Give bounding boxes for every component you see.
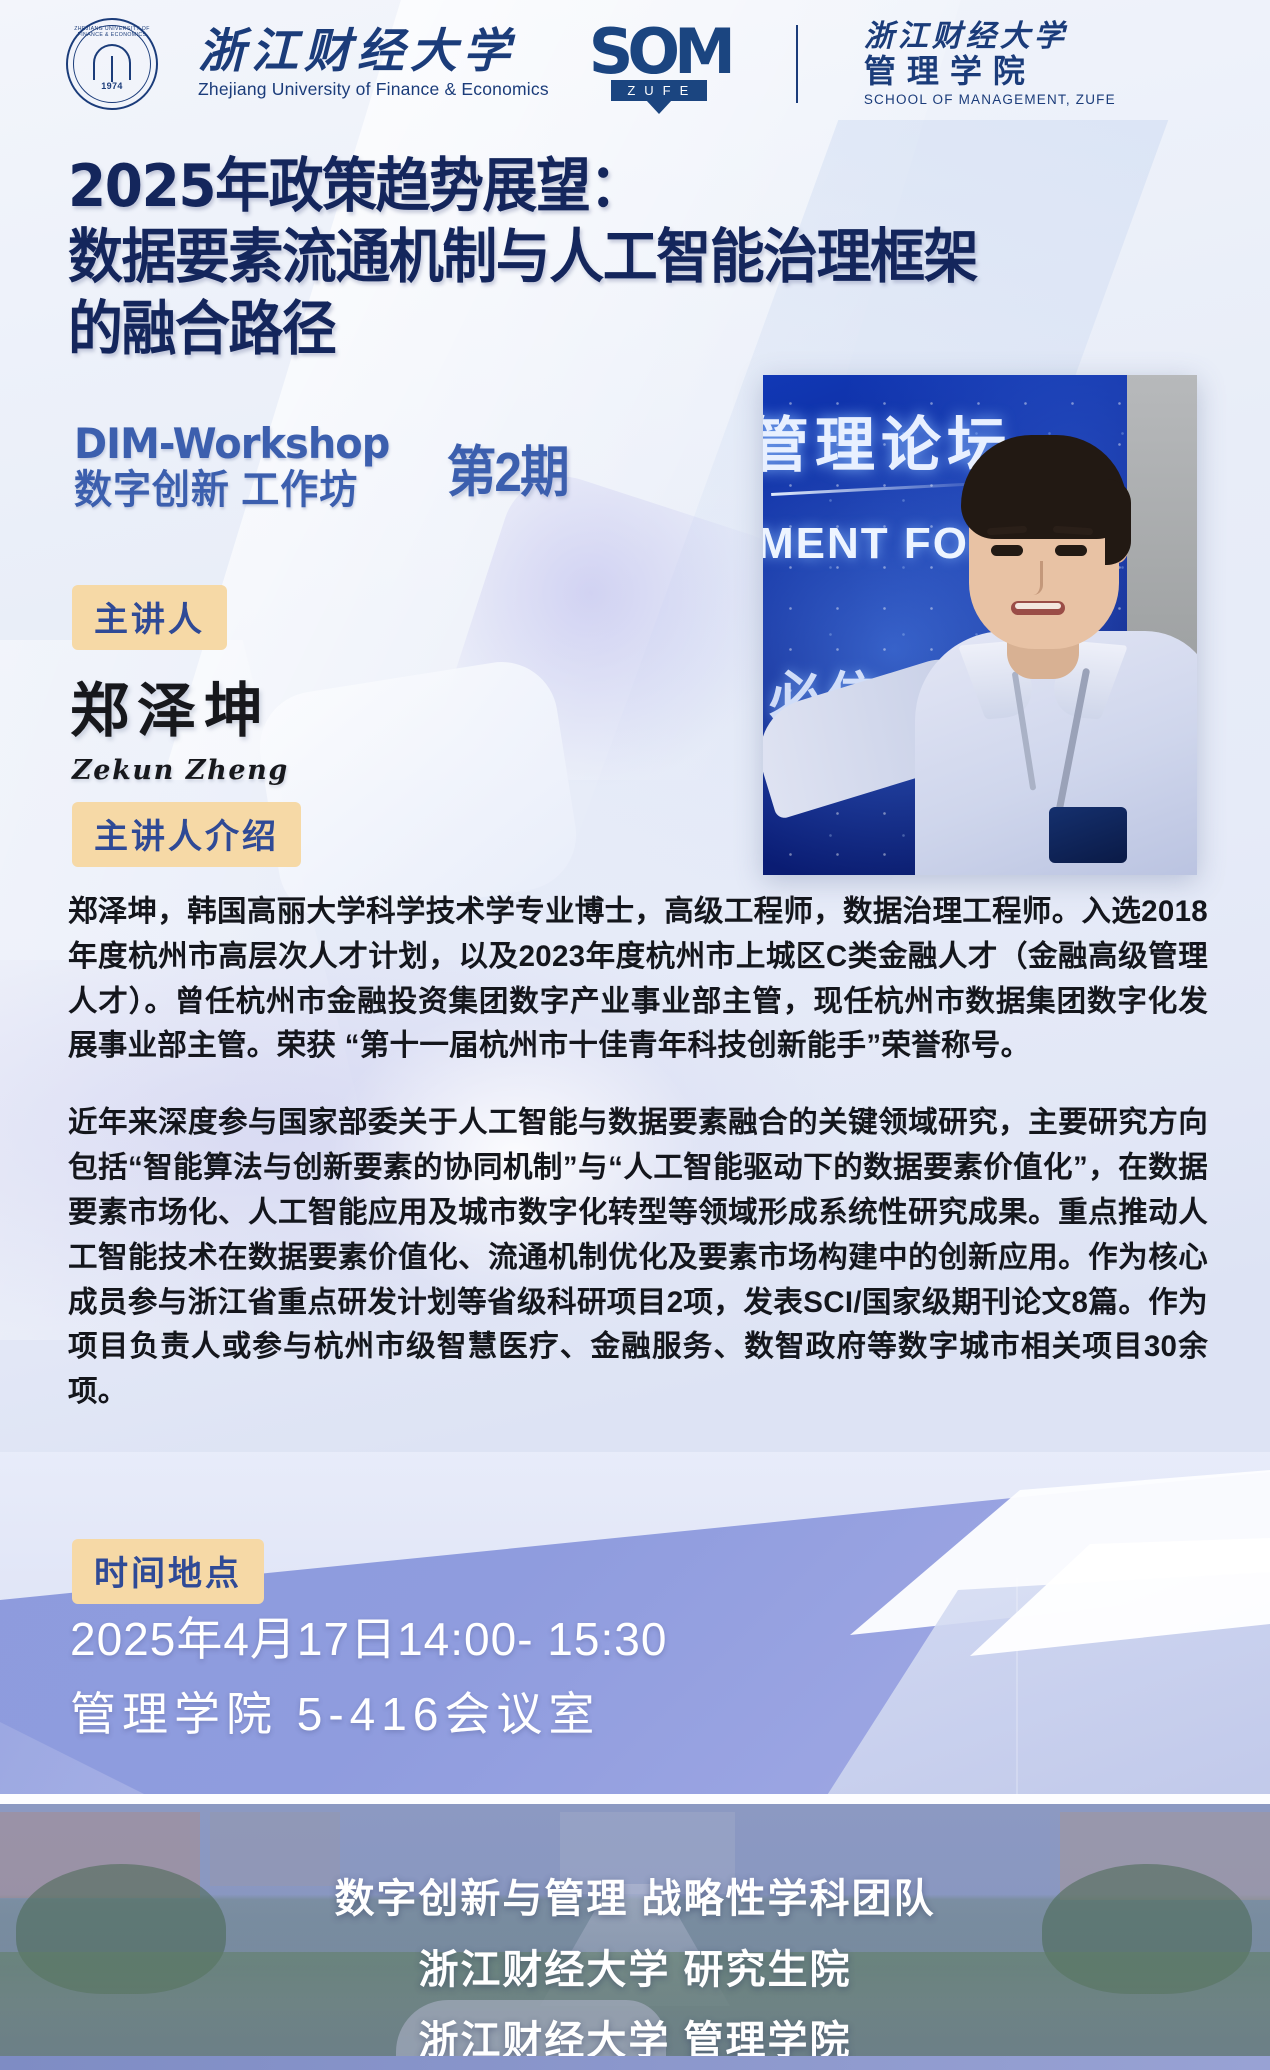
speaker-photo: 管理论坛 MENT FOR 必信AI bbox=[763, 375, 1197, 875]
som-logo-letters: SOM bbox=[589, 27, 730, 78]
title-line-2: 数据要素流通机制与人工智能治理框架 bbox=[68, 221, 1128, 292]
poster-title: 2025年政策趋势展望： 数据要素流通机制与人工智能治理框架 的融合路径 bbox=[68, 150, 1208, 364]
footer-line-2: 浙江财经大学 研究生院 bbox=[0, 1937, 1270, 1995]
poster-root: ZHEJIANG UNIVERSITY OF FINANCE & ECONOMI… bbox=[0, 0, 1270, 2070]
white-rounded-card bbox=[252, 654, 584, 928]
speaker-nose bbox=[1025, 561, 1043, 595]
university-name-cn: 浙江财经大学 bbox=[198, 28, 549, 75]
speaker-badge: 主讲人 bbox=[72, 585, 227, 650]
bio-paragraph-2: 近年来深度参与国家部委关于人工智能与数据要素融合的关键领域研究，主要研究方向包括… bbox=[68, 1101, 1208, 1415]
speaker-name-en: Zekun Zheng bbox=[72, 755, 289, 786]
footer-banner: 数字创新与管理 战略性学科团队 浙江财经大学 研究生院 浙江财经大学 管理学院 bbox=[0, 1804, 1270, 2070]
title-line-1: 2025年政策趋势展望： bbox=[68, 150, 1128, 221]
school-wordmark: 浙江财经大学 管理学院 SCHOOL OF MANAGEMENT, ZUFE bbox=[864, 21, 1116, 107]
speaker-intro-badge: 主讲人介绍 bbox=[72, 802, 301, 867]
bio-paragraph-1: 郑泽坤，韩国高丽大学科学技术学专业博士，高级工程师，数据治理工程师。入选2018… bbox=[68, 890, 1208, 1069]
university-wordmark: 浙江财经大学 Zhejiang University of Finance & … bbox=[198, 28, 549, 100]
workshop-name-cn: 数字创新 工作坊 bbox=[74, 467, 389, 513]
school-name-cn-line2: 管理学院 bbox=[864, 55, 1116, 89]
workshop-name-en: DIM-Workshop bbox=[74, 420, 389, 467]
university-seal-icon: ZHEJIANG UNIVERSITY OF FINANCE & ECONOMI… bbox=[66, 18, 158, 110]
speaker-bio: 郑泽坤，韩国高丽大学科学技术学专业博士，高级工程师，数据治理工程师。入选2018… bbox=[68, 890, 1208, 1415]
workshop-name: DIM-Workshop 数字创新 工作坊 bbox=[74, 420, 406, 513]
violet-blob bbox=[431, 461, 809, 839]
event-location: 管理学院 5-416会议室 bbox=[70, 1678, 600, 1744]
footer-line-1: 数字创新与管理 战略性学科团队 bbox=[0, 1866, 1270, 1924]
workshop-subtitle: DIM-Workshop 数字创新 工作坊 第2期 bbox=[74, 420, 575, 513]
som-logo-sub: ZUFE bbox=[611, 80, 707, 101]
title-line-3: 的融合路径 bbox=[68, 293, 1128, 364]
seal-year: 1974 bbox=[66, 81, 158, 91]
school-name-en: SCHOOL OF MANAGEMENT, ZUFE bbox=[864, 92, 1116, 107]
school-name-cn-line1: 浙江财经大学 bbox=[864, 21, 1116, 53]
event-time-badge: 时间地点 bbox=[72, 1539, 264, 1604]
logo-divider bbox=[796, 25, 798, 103]
conference-badge-card bbox=[1049, 807, 1127, 863]
section-separator bbox=[0, 1794, 1270, 1804]
university-name-en: Zhejiang University of Finance & Economi… bbox=[198, 79, 549, 100]
band-vertical-stripe bbox=[1016, 1578, 1018, 1794]
speaker-eye-right bbox=[1055, 545, 1087, 556]
header-logos: ZHEJIANG UNIVERSITY OF FINANCE & ECONOMI… bbox=[0, 0, 1270, 128]
speaker-name-cn: 郑泽坤 bbox=[70, 663, 271, 748]
seal-gate-icon bbox=[93, 44, 131, 80]
event-datetime: 2025年4月17日14:00- 15:30 bbox=[70, 1603, 667, 1669]
speaker-eye-left bbox=[991, 545, 1023, 556]
backdrop-text-en: MENT FOR bbox=[763, 519, 1003, 569]
som-logo: SOM ZUFE bbox=[589, 27, 730, 102]
footer-bottom-strip bbox=[0, 2056, 1270, 2070]
workshop-issue-number: 第2期 bbox=[447, 427, 568, 507]
speaker-mouth bbox=[1011, 601, 1065, 615]
seal-arc-text: ZHEJIANG UNIVERSITY OF FINANCE & ECONOMI… bbox=[66, 26, 158, 38]
